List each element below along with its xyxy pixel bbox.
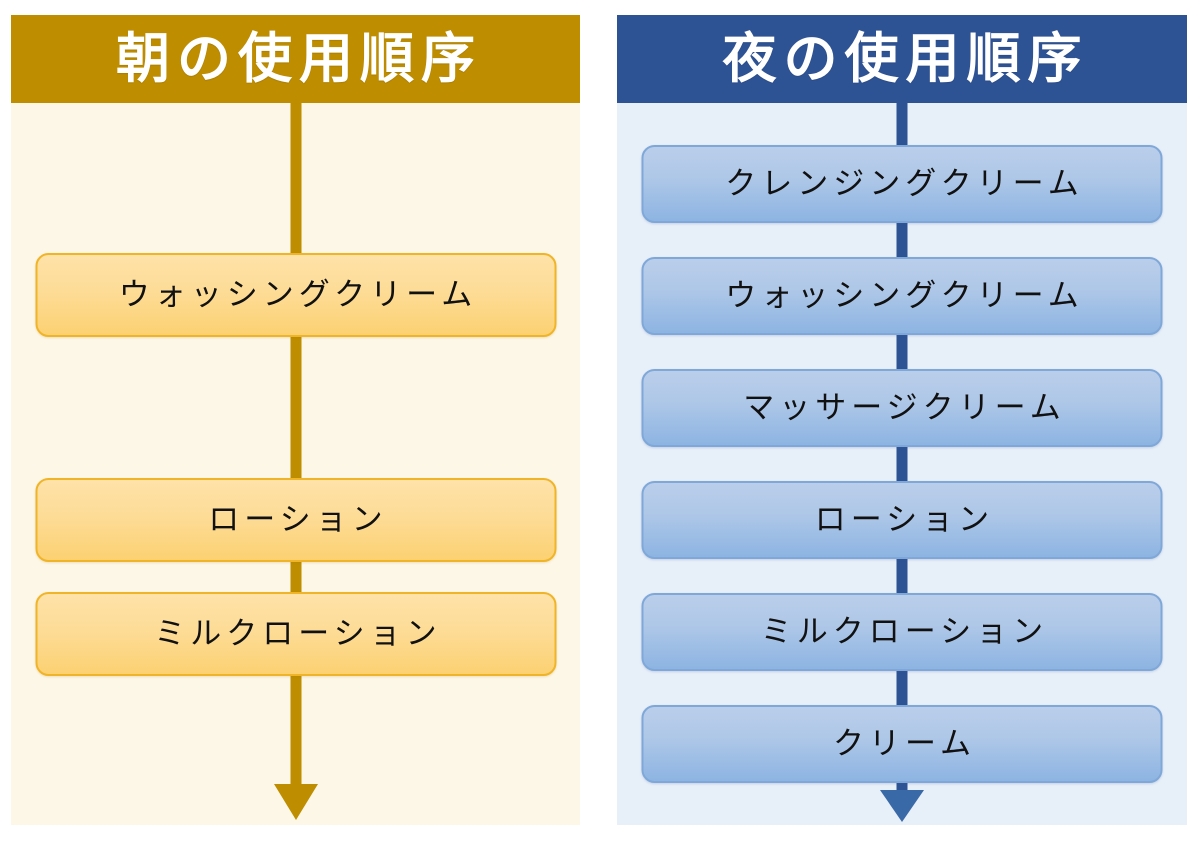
morning-panel-title: 朝の使用順序: [109, 32, 482, 86]
morning-step-2[interactable]: ローション: [35, 478, 556, 562]
night-step-1[interactable]: クレンジングクリーム: [642, 145, 1163, 223]
night-step-5-label: ミルクローション: [756, 617, 1048, 648]
morning-step-3-label: ミルクローション: [149, 619, 441, 650]
night-step-3[interactable]: マッサージクリーム: [642, 369, 1163, 447]
morning-step-3[interactable]: ミルクローション: [35, 592, 556, 676]
night-panel-header: 夜の使用順序: [617, 15, 1187, 103]
morning-step-1-label: ウォッシングクリーム: [114, 280, 477, 311]
night-step-6-label: クリーム: [828, 729, 976, 760]
morning-step-1[interactable]: ウォッシングクリーム: [35, 253, 556, 337]
night-panel-title: 夜の使用順序: [716, 32, 1089, 86]
night-step-list: クレンジングクリーム ウォッシングクリーム マッサージクリーム ローション ミル…: [617, 0, 1187, 843]
night-step-2-label: ウォッシングクリーム: [720, 281, 1083, 312]
morning-panel-header: 朝の使用順序: [11, 15, 580, 103]
morning-step-2-label: ローション: [203, 505, 387, 536]
night-step-6[interactable]: クリーム: [642, 705, 1163, 783]
night-routine-panel: 夜の使用順序 クレンジングクリーム ウォッシングクリーム マッサージクリーム ロ…: [617, 0, 1187, 843]
night-step-5[interactable]: ミルクローション: [642, 593, 1163, 671]
night-step-3-label: マッサージクリーム: [738, 393, 1065, 424]
night-step-1-label: クレンジングクリーム: [720, 169, 1083, 200]
night-step-2[interactable]: ウォッシングクリーム: [642, 257, 1163, 335]
night-step-4[interactable]: ローション: [642, 481, 1163, 559]
flowchart-canvas: 朝の使用順序 ウォッシングクリーム ローション ミルクローション 夜の使用順序 …: [0, 0, 1200, 843]
night-step-4-label: ローション: [810, 505, 994, 536]
morning-routine-panel: 朝の使用順序 ウォッシングクリーム ローション ミルクローション: [11, 0, 580, 843]
morning-step-list: ウォッシングクリーム ローション ミルクローション: [11, 0, 580, 843]
